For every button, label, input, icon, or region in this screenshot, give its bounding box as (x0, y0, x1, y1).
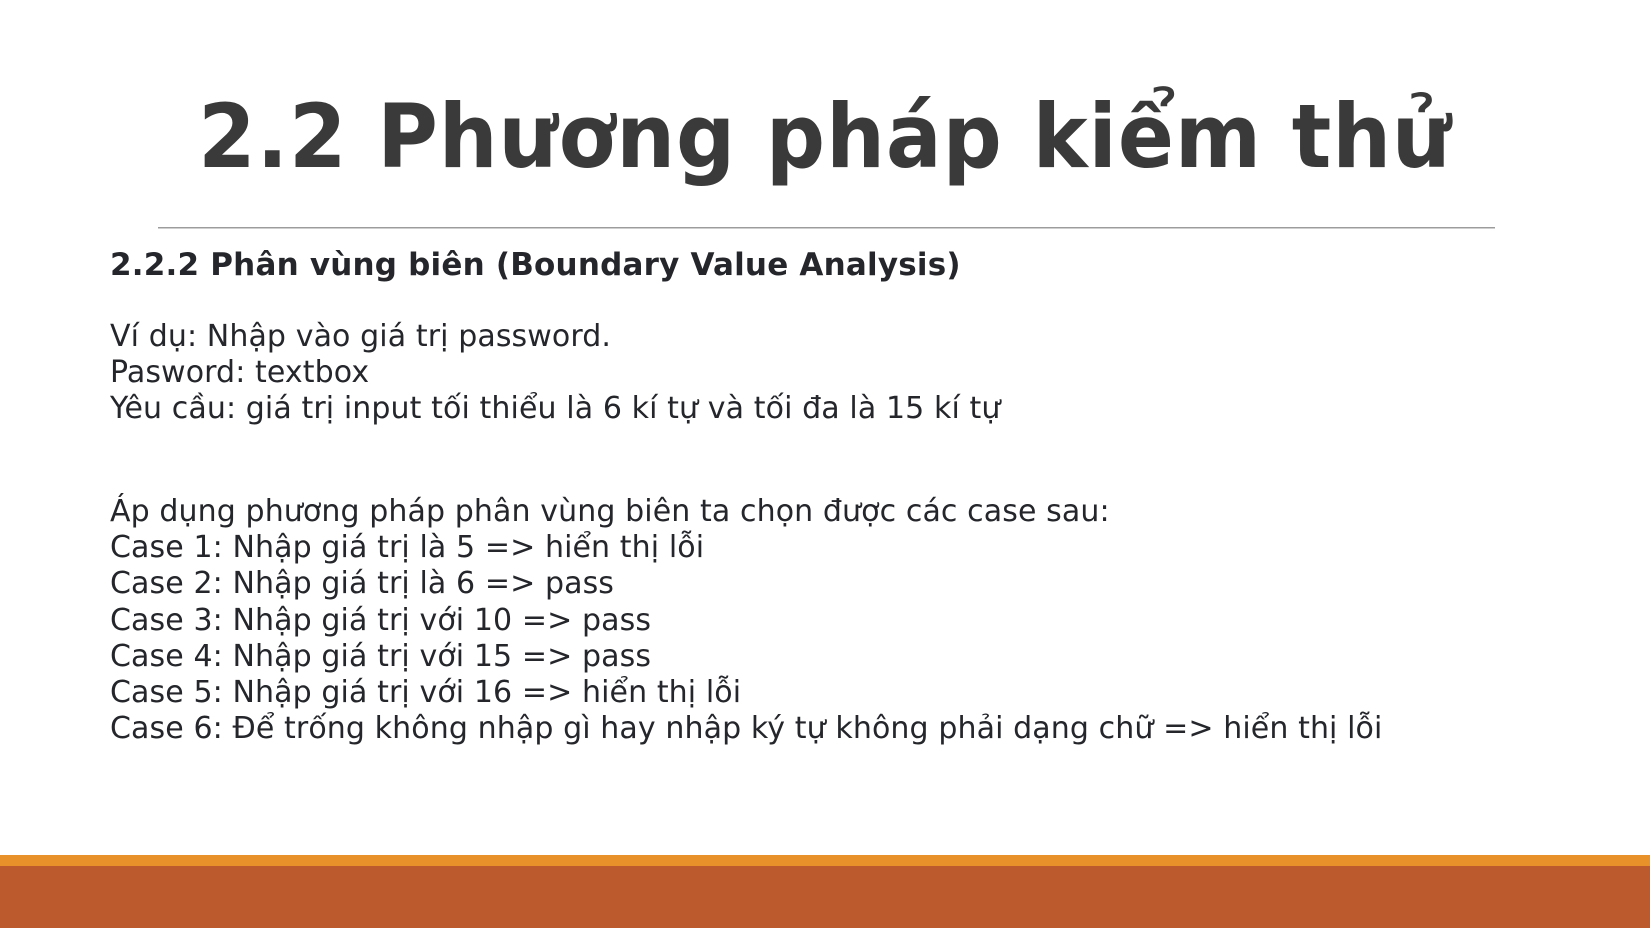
case-line: Case 5: Nhập giá trị với 16 => hiển thị … (110, 675, 1560, 711)
footer-band (0, 866, 1650, 928)
case-line: Case 6: Để trống không nhập gì hay nhập … (110, 711, 1560, 747)
footer-accent-stripe (0, 855, 1650, 866)
case-line: Case 1: Nhập giá trị là 5 => hiển thị lỗ… (110, 530, 1560, 566)
spacer (110, 295, 1560, 319)
spacer (110, 428, 1560, 494)
case-line: Case 4: Nhập giá trị với 15 => pass (110, 639, 1560, 675)
title-divider (158, 227, 1495, 229)
example-line: Ví dụ: Nhập vào giá trị password. (110, 319, 1560, 355)
page-title: 2.2 Phương pháp kiểm thử (50, 86, 1601, 187)
title-area: 2.2 Phương pháp kiểm thử (0, 86, 1650, 208)
slide-body: 2.2.2 Phân vùng biên (Boundary Value Ana… (110, 246, 1560, 748)
example-line: Pasword: textbox (110, 355, 1560, 391)
case-line: Case 2: Nhập giá trị là 6 => pass (110, 566, 1560, 602)
case-line: Case 3: Nhập giá trị với 10 => pass (110, 603, 1560, 639)
slide: 2.2 Phương pháp kiểm thử 2.2.2 Phân vùng… (0, 0, 1650, 928)
cases-block: Áp dụng phương pháp phân vùng biên ta ch… (110, 494, 1560, 748)
cases-intro: Áp dụng phương pháp phân vùng biên ta ch… (110, 494, 1560, 530)
example-line: Yêu cầu: giá trị input tối thiểu là 6 kí… (110, 391, 1560, 427)
example-block: Ví dụ: Nhập vào giá trị password. Paswor… (110, 319, 1560, 428)
section-heading: 2.2.2 Phân vùng biên (Boundary Value Ana… (110, 246, 1560, 285)
